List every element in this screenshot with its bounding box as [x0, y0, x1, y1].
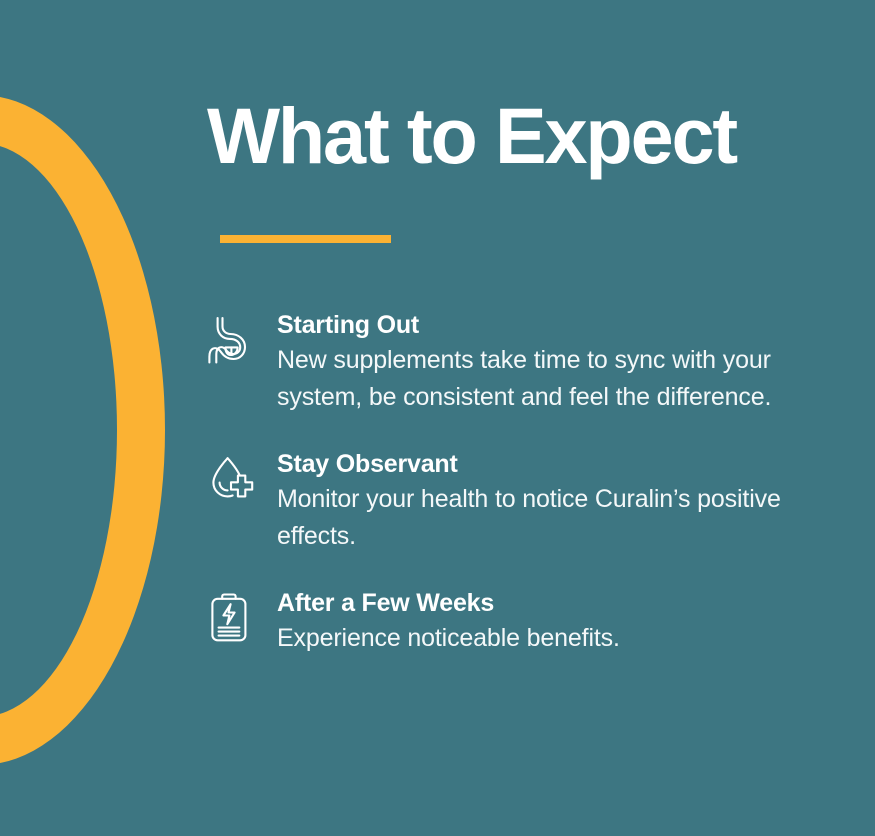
droplet-medical-cross-icon — [207, 453, 255, 505]
feature-body: Stay Observant Monitor your health to no… — [277, 447, 837, 555]
title-accent-bar — [220, 235, 391, 243]
feature-text: Experience noticeable benefits. — [277, 620, 620, 657]
stomach-digestion-icon — [207, 314, 255, 366]
list-item: Starting Out New supplements take time t… — [207, 308, 847, 416]
page-title: What to Expect — [207, 96, 736, 175]
feature-body: Starting Out New supplements take time t… — [277, 308, 837, 416]
feature-heading: Stay Observant — [277, 447, 837, 481]
feature-heading: Starting Out — [277, 308, 837, 342]
feature-body: After a Few Weeks Experience noticeable … — [277, 586, 620, 657]
list-item: After a Few Weeks Experience noticeable … — [207, 586, 847, 657]
what-to-expect-card: What to Expect Starting Out New suppleme… — [0, 0, 875, 836]
feature-heading: After a Few Weeks — [277, 586, 620, 620]
feature-text: New supplements take time to sync with y… — [277, 342, 837, 416]
battery-charge-icon — [207, 592, 255, 644]
decorative-arc-shape — [0, 95, 165, 765]
feature-list: Starting Out New supplements take time t… — [207, 308, 847, 657]
list-item: Stay Observant Monitor your health to no… — [207, 447, 847, 555]
feature-text: Monitor your health to notice Curalin’s … — [277, 481, 837, 555]
